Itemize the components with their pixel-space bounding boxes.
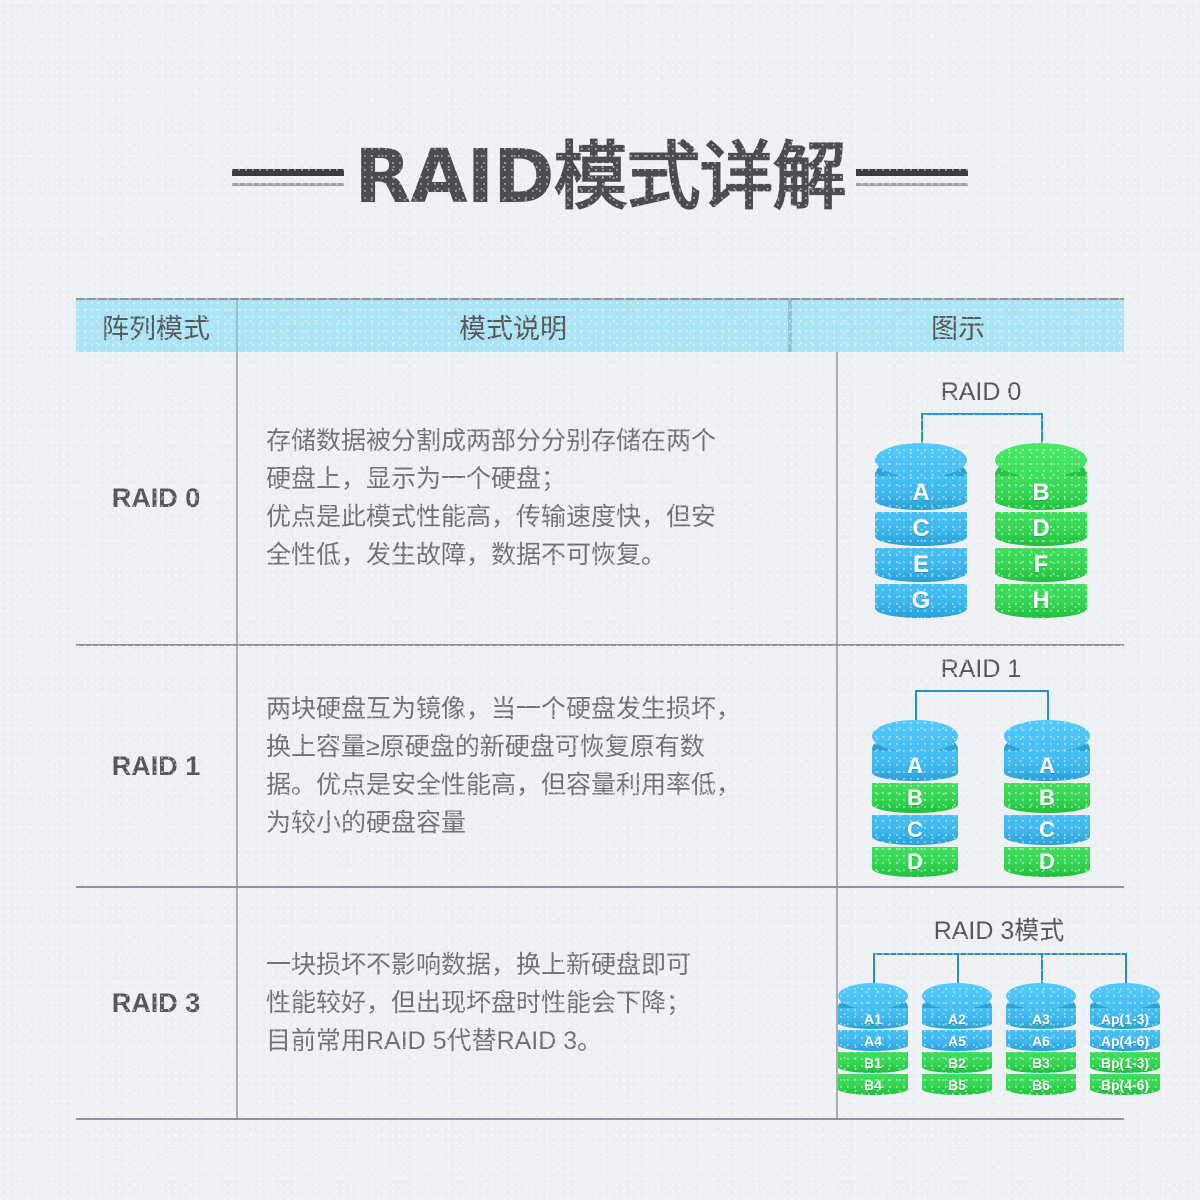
disk-layer-label: Ap(4-6): [1101, 1033, 1149, 1049]
raid-diagram-cell: RAID 0ACEGBDFH: [838, 352, 1124, 644]
disk-cylinder: A2A5B2B5: [922, 983, 992, 1095]
diagram-connector-bracket: [872, 690, 1090, 720]
disk-layer: Bp(1-3): [1090, 1052, 1160, 1073]
disk-layer-label: B: [1039, 785, 1055, 811]
diagram-title: RAID 1: [941, 655, 1022, 684]
disk-group: A1A4B1B4A2A5B2B5A3A6B3B6Ap(1-3)Ap(4-6)Bp…: [838, 983, 1160, 1095]
connector-drop-line: [1041, 413, 1043, 447]
description-line: 两块硬盘互为镜像，当一个硬盘发生损坏，: [266, 690, 741, 728]
disk-layer-label: A1: [864, 1011, 882, 1027]
disk-lid: [838, 983, 908, 1009]
disk-layer: C: [872, 815, 958, 845]
description-line: 存储数据被分割成两部分分别存储在两个: [266, 422, 716, 460]
raid-diagram: RAID 0ACEGBDFH: [875, 378, 1087, 618]
raid-description-cell: 两块硬盘互为镜像，当一个硬盘发生损坏，换上容量≥原硬盘的新硬盘可恢复原有数据。优…: [236, 646, 838, 886]
disk-layer-label: B4: [864, 1077, 882, 1093]
connector-drop-line: [957, 953, 959, 987]
disk-layer: B4: [838, 1074, 908, 1095]
disk-layer-label: B: [1032, 479, 1049, 507]
raid-description-text: 两块硬盘互为镜像，当一个硬盘发生损坏，换上容量≥原硬盘的新硬盘可恢复原有数据。优…: [266, 690, 741, 842]
disk-layer: B: [1004, 783, 1090, 813]
disk-lid: [1090, 983, 1160, 1009]
diagram-title: RAID 0: [941, 378, 1022, 407]
disk-layer-label: B5: [948, 1077, 966, 1093]
raid-description-text: 存储数据被分割成两部分分别存储在两个硬盘上，显示为一个硬盘；优点是此模式性能高，…: [266, 422, 716, 574]
connector-drop-line: [1047, 690, 1049, 724]
disk-lid: [1006, 983, 1076, 1009]
disk-layer-label: Bp(1-3): [1101, 1055, 1149, 1071]
disk-layer-label: A2: [948, 1011, 966, 1027]
table-body: RAID 0存储数据被分割成两部分分别存储在两个硬盘上，显示为一个硬盘；优点是此…: [76, 352, 1124, 1118]
description-line: 性能较好，但出现坏盘时性能会下降；: [266, 984, 691, 1022]
disk-layer-label: A6: [1032, 1033, 1050, 1049]
disk-layer-label: A: [912, 479, 929, 507]
raid-diagram-cell: RAID 1ABCDABCD: [838, 646, 1124, 886]
description-line: 换上容量≥原硬盘的新硬盘可恢复原有数: [266, 728, 741, 766]
description-line: 为较小的硬盘容量: [266, 804, 741, 842]
disk-cylinder: A3A6B3B6: [1006, 983, 1076, 1095]
disk-layer-label: B: [907, 785, 923, 811]
raid-mode-label: RAID 3: [76, 888, 236, 1118]
disk-layer: A: [875, 476, 967, 510]
disk-layer-label: A: [907, 753, 923, 779]
table-header-row: 阵列模式 模式说明 图示: [76, 300, 1124, 352]
disk-layer: F: [995, 548, 1087, 582]
disk-layer: B: [872, 783, 958, 813]
disk-lid: [1004, 720, 1090, 752]
disk-layer: D: [995, 512, 1087, 546]
disk-layer-label: B1: [864, 1055, 882, 1071]
disk-layer: A6: [1006, 1030, 1076, 1051]
disk-layer: C: [875, 512, 967, 546]
diagram-connector-bracket: [875, 413, 1087, 443]
disk-layer: Ap(1-3): [1090, 1008, 1160, 1029]
disk-layer: C: [1004, 815, 1090, 845]
disk-layer: B: [995, 476, 1087, 510]
disk-cylinder: ABCD: [1004, 720, 1090, 877]
column-header-mode: 阵列模式: [76, 300, 236, 352]
raid-description-text: 一块损坏不影响数据，换上新硬盘即可性能较好，但出现坏盘时性能会下降；目前常用RA…: [266, 946, 691, 1060]
disk-layer: Bp(4-6): [1090, 1074, 1160, 1095]
description-line: 硬盘上，显示为一个硬盘；: [266, 460, 716, 498]
disk-layer: A: [872, 751, 958, 781]
disk-layer-label: A4: [864, 1033, 882, 1049]
disk-cylinder: ACEG: [875, 443, 967, 618]
disk-layer: D: [1004, 847, 1090, 877]
connector-drop-line: [915, 690, 917, 724]
disk-layer: A4: [838, 1030, 908, 1051]
disk-layer-label: F: [1034, 551, 1049, 579]
disk-layer-label: A: [1039, 753, 1055, 779]
disk-lid: [922, 983, 992, 1009]
disk-layer: D: [872, 847, 958, 877]
disk-layer-label: H: [1032, 587, 1049, 615]
disk-layer: H: [995, 584, 1087, 618]
description-line: 全性低，发生故障，数据不可恢复。: [266, 536, 716, 574]
disk-cylinder: BDFH: [995, 443, 1087, 618]
disk-group: ACEGBDFH: [875, 443, 1087, 618]
disk-layer: B6: [1006, 1074, 1076, 1095]
disk-layer-label: G: [912, 587, 931, 615]
diagram-connector-bracket: [838, 953, 1160, 983]
disk-layer-label: A5: [948, 1033, 966, 1049]
disk-cylinder: ABCD: [872, 720, 958, 877]
disk-layer: E: [875, 548, 967, 582]
raid-description-cell: 一块损坏不影响数据，换上新硬盘即可性能较好，但出现坏盘时性能会下降；目前常用RA…: [236, 888, 838, 1118]
disk-layer: B5: [922, 1074, 992, 1095]
disk-cylinder: Ap(1-3)Ap(4-6)Bp(1-3)Bp(4-6): [1090, 983, 1160, 1095]
disk-layer-label: D: [1032, 515, 1049, 543]
disk-layer: G: [875, 584, 967, 618]
description-line: 一块损坏不影响数据，换上新硬盘即可: [266, 946, 691, 984]
disk-layer: A2: [922, 1008, 992, 1029]
raid-mode-label: RAID 0: [76, 352, 236, 644]
connector-top-line: [915, 690, 1047, 692]
disk-layer-label: B6: [1032, 1077, 1050, 1093]
raid-diagram-cell: RAID 3模式A1A4B1B4A2A5B2B5A3A6B3B6Ap(1-3)A…: [838, 888, 1160, 1118]
disk-layer-label: D: [907, 849, 923, 875]
connector-top-line: [921, 413, 1041, 415]
disk-layer: Ap(4-6): [1090, 1030, 1160, 1051]
disk-layer-label: B3: [1032, 1055, 1050, 1071]
disk-cylinder: A1A4B1B4: [838, 983, 908, 1095]
raid-diagram: RAID 3模式A1A4B1B4A2A5B2B5A3A6B3B6Ap(1-3)A…: [838, 911, 1160, 1095]
disk-layer-label: C: [1039, 817, 1055, 843]
disk-layer-label: C: [907, 817, 923, 843]
column-header-description: 模式说明: [236, 300, 790, 352]
title-decoration-left: [232, 169, 344, 186]
page-title-block: RAID模式详解: [0, 140, 1200, 214]
disk-layer: B3: [1006, 1052, 1076, 1073]
column-header-diagram: 图示: [790, 300, 1124, 352]
disk-layer-label: E: [913, 551, 929, 579]
disk-lid: [872, 720, 958, 752]
connector-drop-line: [1125, 953, 1127, 987]
disk-layer: B1: [838, 1052, 908, 1073]
diagram-title: RAID 3模式: [934, 911, 1065, 947]
poster-root: RAID模式详解 阵列模式 模式说明 图示 RAID 0存储数据被分割成两部分分…: [0, 0, 1200, 1200]
disk-layer-label: Bp(4-6): [1101, 1077, 1149, 1093]
disk-layer-label: Ap(1-3): [1101, 1011, 1149, 1027]
raid-mode-label: RAID 1: [76, 646, 236, 886]
connector-drop-line: [873, 953, 875, 987]
disk-layer: A: [1004, 751, 1090, 781]
raid-diagram: RAID 1ABCDABCD: [872, 655, 1090, 877]
disk-layer-label: B2: [948, 1055, 966, 1071]
page-title: RAID模式详解: [354, 140, 845, 214]
disk-layer-label: A3: [1032, 1011, 1050, 1027]
description-line: 优点是此模式性能高，传输速度快，但安: [266, 498, 716, 536]
table-row: RAID 0存储数据被分割成两部分分别存储在两个硬盘上，显示为一个硬盘；优点是此…: [76, 352, 1124, 644]
disk-layer-label: D: [1039, 849, 1055, 875]
disk-lid: [995, 443, 1087, 477]
disk-layer: A1: [838, 1008, 908, 1029]
table-row: RAID 1两块硬盘互为镜像，当一个硬盘发生损坏，换上容量≥原硬盘的新硬盘可恢复…: [76, 644, 1124, 886]
disk-layer: A3: [1006, 1008, 1076, 1029]
connector-drop-line: [921, 413, 923, 447]
table-row: RAID 3一块损坏不影响数据，换上新硬盘即可性能较好，但出现坏盘时性能会下降；…: [76, 886, 1124, 1118]
disk-layer: A5: [922, 1030, 992, 1051]
raid-description-cell: 存储数据被分割成两部分分别存储在两个硬盘上，显示为一个硬盘；优点是此模式性能高，…: [236, 352, 838, 644]
description-line: 目前常用RAID 5代替RAID 3。: [266, 1022, 691, 1060]
disk-group: ABCDABCD: [872, 720, 1090, 877]
disk-layer-label: C: [912, 515, 929, 543]
disk-lid: [875, 443, 967, 477]
description-line: 据。优点是安全性能高，但容量利用率低，: [266, 766, 741, 804]
connector-drop-line: [1041, 953, 1043, 987]
connector-top-line: [873, 953, 1125, 955]
title-decoration-right: [856, 169, 968, 186]
disk-layer: B2: [922, 1052, 992, 1073]
raid-comparison-table: 阵列模式 模式说明 图示 RAID 0存储数据被分割成两部分分别存储在两个硬盘上…: [76, 298, 1124, 1120]
